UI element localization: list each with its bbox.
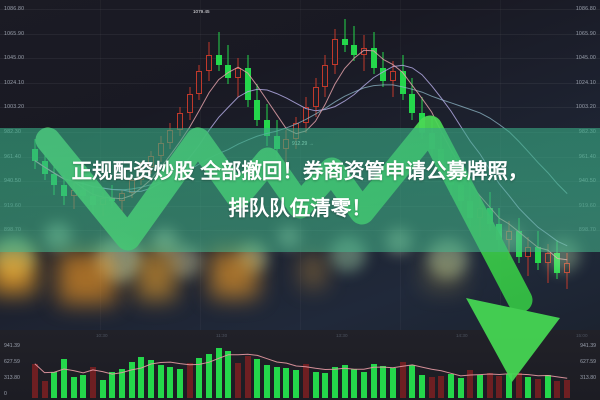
volume-bar — [196, 358, 202, 398]
volume-bar — [225, 351, 231, 399]
volume-bar — [254, 359, 260, 398]
price-axis-tick: 1045.00 — [4, 55, 24, 61]
volume-bar — [554, 381, 560, 398]
candle-body — [342, 39, 348, 46]
candle-body — [196, 71, 202, 94]
screenshot-root: 1086.801065.901045.001024.101003.20982.3… — [0, 0, 600, 400]
volume-bar — [419, 375, 425, 398]
candle-body — [351, 45, 357, 55]
candle-body — [225, 65, 231, 78]
volume-bar — [90, 367, 96, 398]
volume-bar — [100, 380, 106, 398]
volume-bar — [535, 379, 541, 398]
volume-bar — [545, 375, 551, 398]
volume-bar — [42, 381, 48, 398]
headline-text: 正规配资炒股 全部撤回！券商资管申请公募牌照， 排队队伍清零！ — [0, 130, 600, 250]
high-price-marker: 1079.45 — [193, 9, 210, 14]
volume-bar — [371, 364, 377, 398]
volume-axis-tick: 313.80 — [4, 375, 20, 381]
price-axis-tick-right: 1086.80 — [576, 6, 596, 12]
candle-wick — [344, 19, 345, 52]
volume-axis-tick: 941.39 — [4, 343, 20, 349]
volume-bar — [564, 380, 570, 398]
volume-axis-tick: 0 — [4, 391, 7, 397]
volume-bar — [438, 376, 444, 398]
volume-axis-tick-right: 627.59 — [580, 359, 596, 365]
volume-bar — [177, 369, 183, 398]
candle-body — [361, 48, 367, 55]
price-axis-tick-right: 1024.10 — [576, 80, 596, 86]
candle-body — [313, 87, 319, 107]
volume-bar — [506, 374, 512, 398]
volume-bar — [303, 364, 309, 398]
price-axis-tick-right: 1065.90 — [576, 31, 596, 37]
volume-bar — [293, 370, 299, 398]
volume-bar — [119, 369, 125, 398]
volume-bar — [380, 366, 386, 398]
time-axis-tick: 13:30 — [336, 333, 348, 338]
volume-bar — [283, 368, 289, 398]
candle-body — [235, 68, 241, 78]
time-axis-tick: 14:30 — [456, 333, 468, 338]
candle-wick — [238, 58, 239, 97]
candle-body — [371, 48, 377, 68]
volume-bar — [361, 372, 367, 399]
candle-body — [380, 68, 386, 81]
candle-body — [400, 71, 406, 94]
volume-bar — [158, 365, 164, 398]
headline-line-2: 排队队伍清零！ — [228, 190, 372, 227]
price-axis-tick-right: 1045.00 — [576, 55, 596, 61]
volume-bar — [138, 357, 144, 398]
volume-bar — [129, 362, 135, 398]
volume-bar — [390, 368, 396, 398]
volume-bar — [109, 372, 115, 398]
candle-body — [216, 55, 222, 65]
volume-bar — [235, 363, 241, 398]
volume-axis-tick: 627.59 — [4, 359, 20, 365]
volume-bar — [487, 373, 493, 398]
volume-bar — [148, 360, 154, 398]
volume-bar — [351, 369, 357, 398]
volume-bar — [467, 370, 473, 398]
volume-bar — [167, 367, 173, 398]
price-axis-tick: 1065.90 — [4, 31, 24, 37]
candle-body — [206, 55, 212, 71]
time-axis-tick: 11:30 — [216, 333, 227, 338]
volume-bar — [448, 374, 454, 398]
candle-body — [254, 100, 260, 120]
candle-body — [332, 39, 338, 65]
candle-body — [187, 94, 193, 114]
volume-bar — [51, 372, 57, 399]
volume-bar — [516, 373, 522, 398]
volume-bar — [274, 367, 280, 398]
volume-bar — [400, 362, 406, 398]
price-axis-tick: 1086.80 — [4, 6, 24, 12]
candle-wick — [354, 26, 355, 62]
candle-wick — [218, 32, 219, 71]
volume-axis-tick-right: 313.80 — [580, 375, 596, 381]
price-axis-tick-right: 1003.20 — [576, 104, 596, 110]
volume-bar — [477, 375, 483, 398]
volume-bar — [322, 373, 328, 398]
volume-bar — [496, 376, 502, 398]
volume-bar — [216, 348, 222, 398]
volume-bar — [61, 359, 67, 398]
price-axis-tick: 1024.10 — [4, 80, 24, 86]
volume-bar — [458, 378, 464, 398]
candle-body — [409, 94, 415, 114]
volume-bar — [32, 364, 38, 398]
time-axis-tick: 10:30 — [96, 333, 108, 338]
volume-chart-panel: 941.39627.59313.800 941.39627.59313.80 — [0, 330, 600, 400]
volume-bar — [264, 365, 270, 398]
volume-bar — [245, 356, 251, 398]
candle-body — [390, 71, 396, 81]
volume-bar — [71, 377, 77, 398]
volume-axis-tick-right: 941.39 — [580, 343, 596, 349]
volume-bar — [332, 367, 338, 398]
volume-bar — [525, 377, 531, 398]
volume-bar — [313, 372, 319, 398]
volume-bar — [409, 365, 415, 398]
volume-bar — [342, 365, 348, 398]
candle-body — [303, 107, 309, 123]
price-axis-tick: 1003.20 — [4, 104, 24, 110]
volume-bar — [80, 375, 86, 398]
volume-bar — [429, 377, 435, 398]
volume-bar — [187, 363, 193, 398]
candle-body — [322, 65, 328, 88]
candle-body — [245, 68, 251, 101]
volume-bar — [206, 354, 212, 398]
headline-line-1: 正规配资炒股 全部撤回！券商资管申请公募牌照， — [72, 153, 529, 190]
time-axis-tick: 15:00 — [576, 333, 588, 338]
